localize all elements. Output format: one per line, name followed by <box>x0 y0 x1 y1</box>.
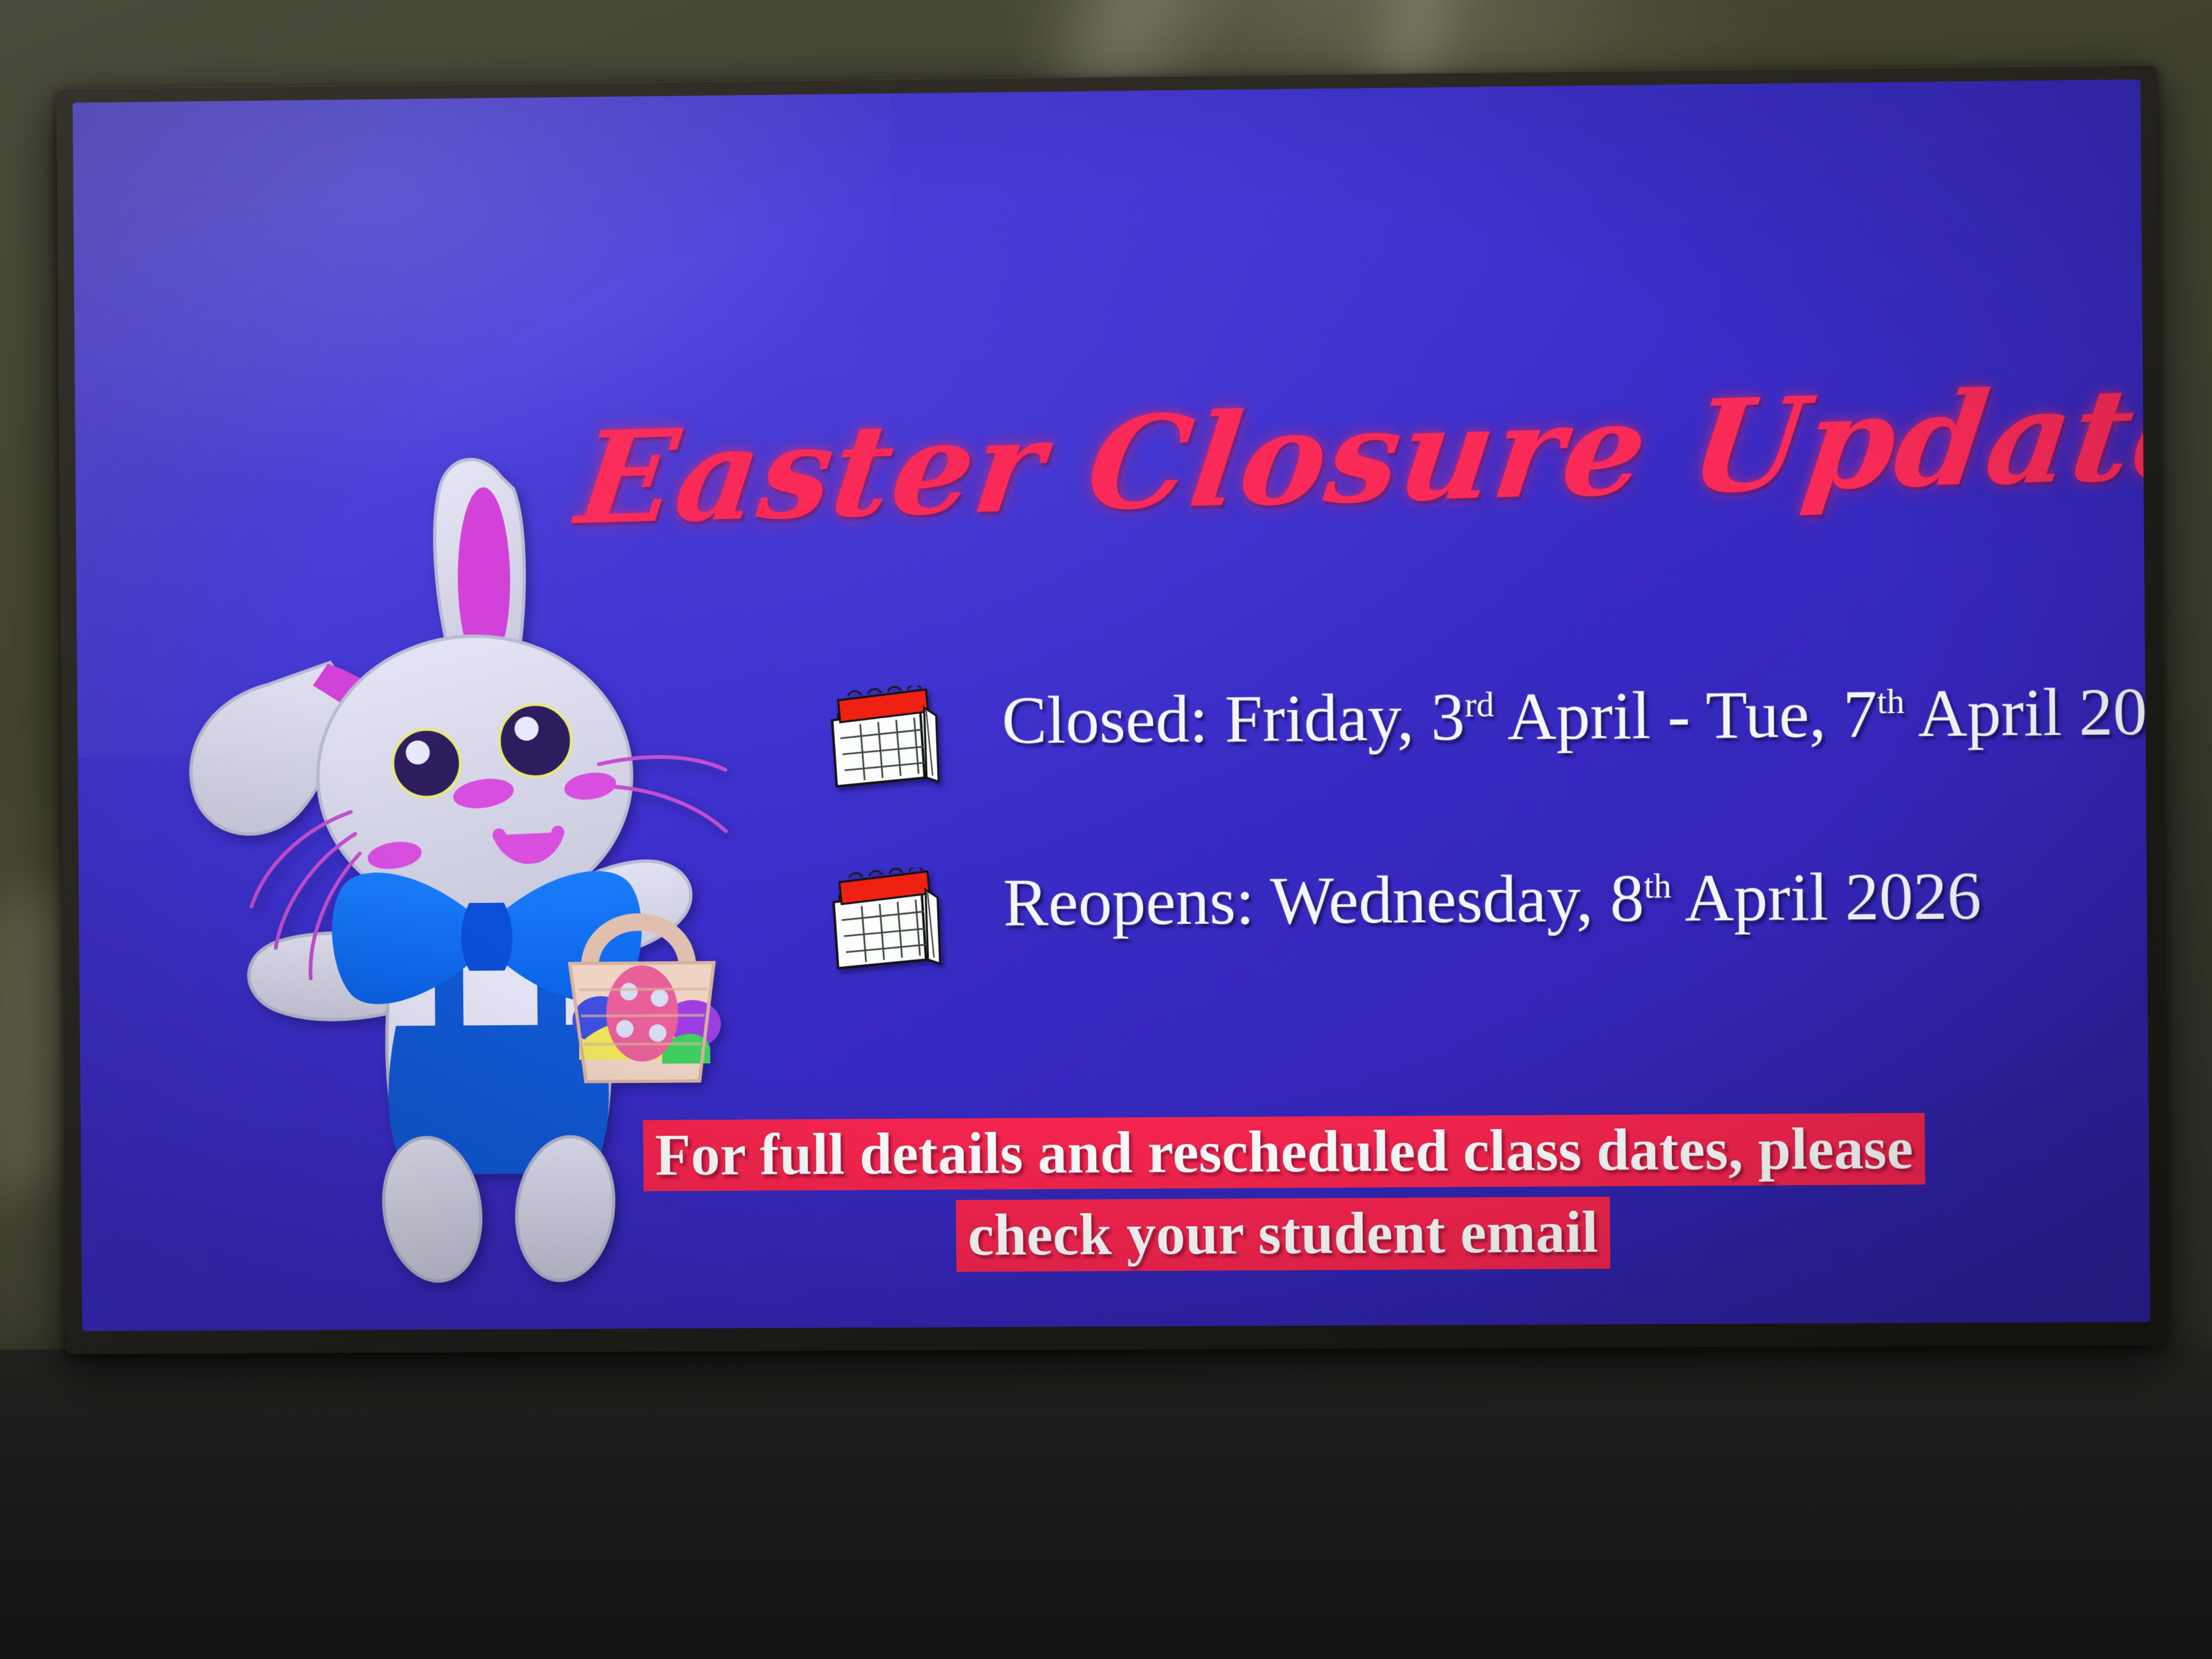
bunny-mouth <box>499 832 558 857</box>
calendar-icon <box>823 685 945 790</box>
bunny-right-eye <box>499 704 572 777</box>
bullet-text: Closed: Friday, 3rd April - Tue, 7th Apr… <box>1002 672 2151 758</box>
callout-banner-text: For full details and rescheduled class d… <box>643 1113 1925 1272</box>
bullet-list: Closed: Friday, 3rd April - Tue, 7th Apr… <box>823 672 2150 1047</box>
bullet-text: Reopens: Wednesday, 8th April 2026 <box>1003 855 2150 940</box>
lower-wall-cabinet <box>0 1350 2212 1659</box>
slide-content: Easter Closure Update <box>72 80 2150 1331</box>
page-title: Easter Closure Update <box>571 379 1854 543</box>
list-item: Closed: Friday, 3rd April - Tue, 7th Apr… <box>823 672 2150 791</box>
calendar-icon <box>825 867 947 972</box>
flat-screen-display[interactable]: Easter Closure Update <box>57 65 2168 1354</box>
bunny-left-eye-glint <box>406 741 430 765</box>
bunny-left-eye <box>393 729 461 797</box>
bunny-right-eye-glint <box>515 716 539 741</box>
callout-banner: For full details and rescheduled class d… <box>570 1108 2000 1279</box>
list-item: Reopens: Wednesday, 8th April 2026 <box>825 855 2150 973</box>
display-panel: Easter Closure Update <box>72 80 2150 1331</box>
